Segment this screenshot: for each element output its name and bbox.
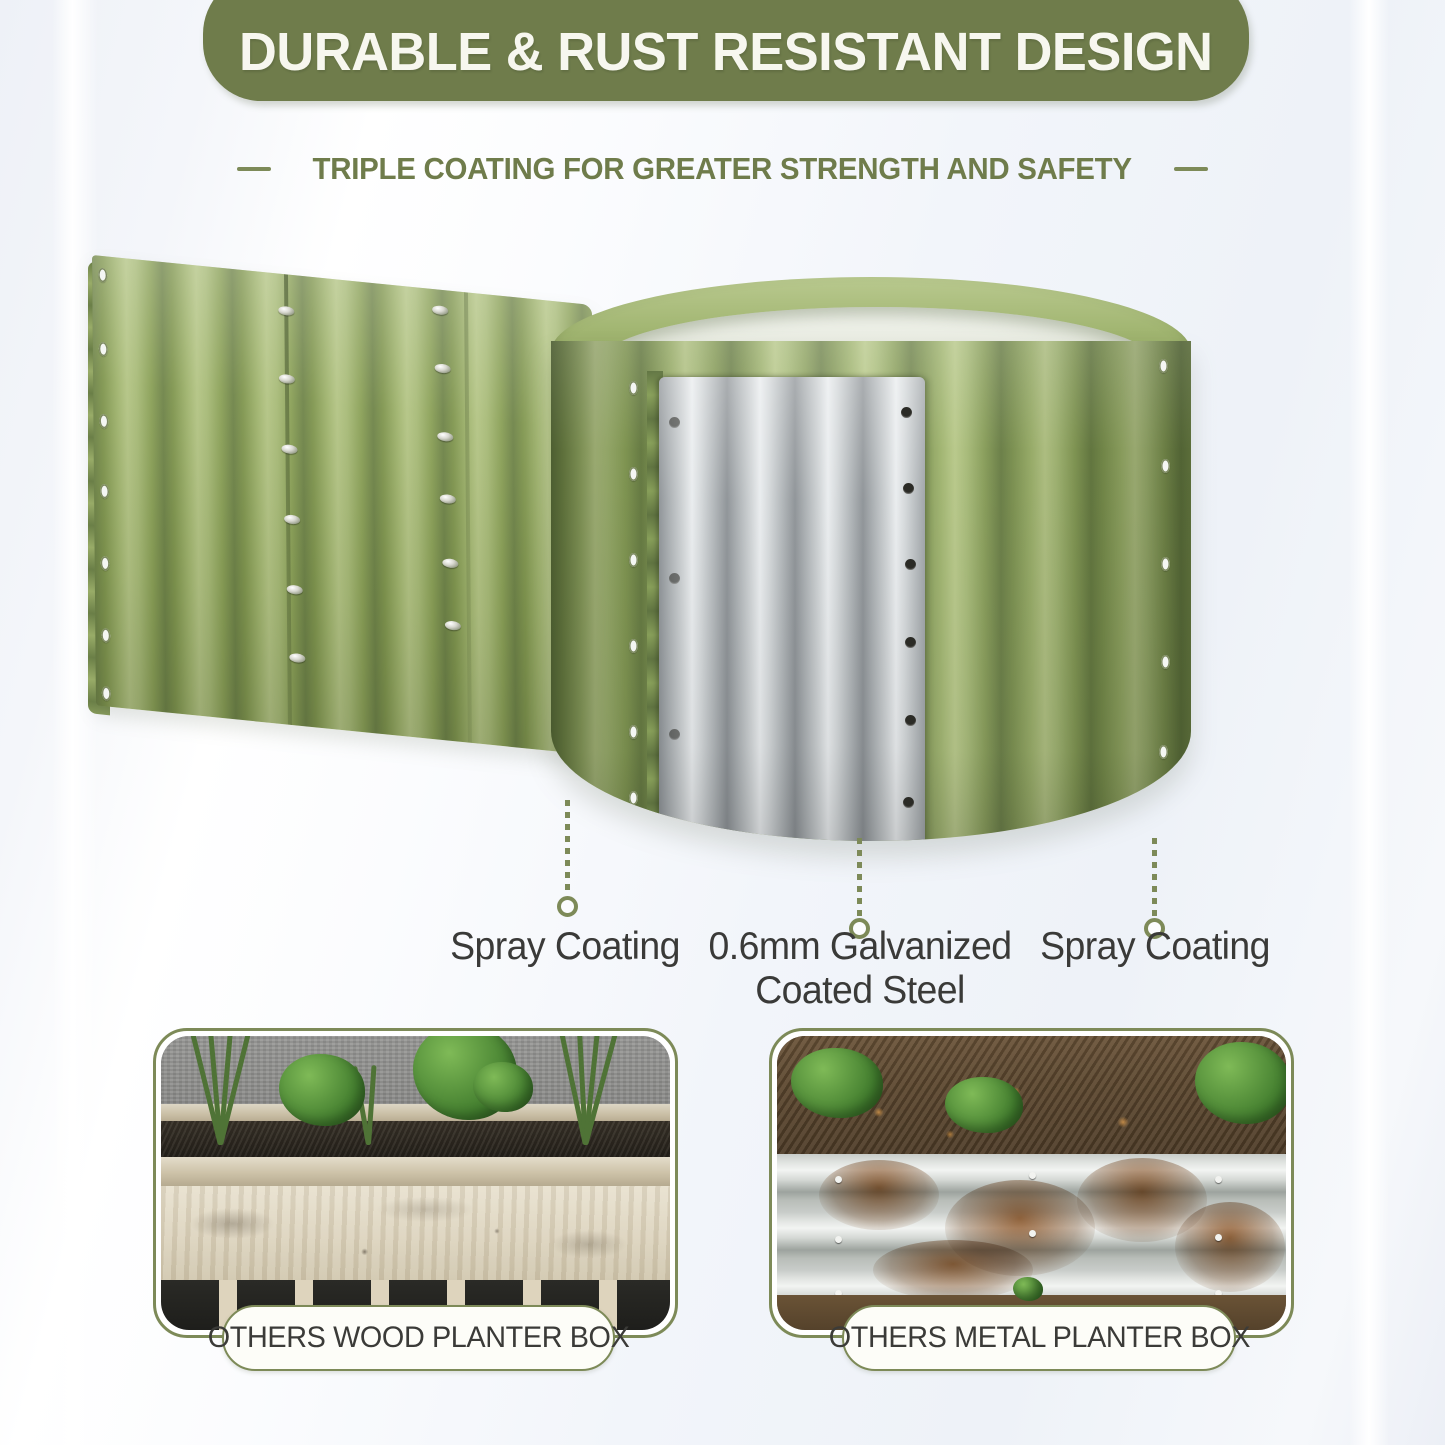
grommet-hole-icon [99, 414, 108, 429]
rivet-icon [1029, 1172, 1036, 1179]
rivet-icon [669, 573, 680, 584]
grommet-hole-icon [629, 791, 638, 805]
plant-foliage [791, 1048, 883, 1118]
rivet-icon [903, 797, 914, 808]
basil-plant [279, 1054, 365, 1126]
grommet-hole-icon [1161, 557, 1170, 571]
caption-metal-label: OTHERS METAL PLANTER BOX [828, 1321, 1249, 1355]
grommet-hole-icon [1159, 745, 1168, 759]
page-title: DURABLE & RUST RESISTANT DESIGN [239, 25, 1212, 101]
dash-right-icon [1174, 167, 1208, 171]
rivet-icon [903, 483, 914, 494]
wood-photo-art [161, 1036, 670, 1330]
plant-foliage [1013, 1277, 1043, 1301]
rivet-icon [1215, 1234, 1222, 1241]
title-banner: DURABLE & RUST RESISTANT DESIGN [203, 0, 1249, 101]
grommet-hole-icon [1161, 459, 1170, 473]
callout-label-middle: 0.6mm Galvanized Coated Steel [697, 925, 1023, 1012]
dash-left-icon [237, 167, 271, 171]
product-illustration [0, 215, 1445, 915]
grommet-hole-icon [100, 484, 109, 499]
grommet-hole-icon [629, 467, 638, 481]
subtitle-row: TRIPLE COATING FOR GREATER STRENGTH AND … [0, 146, 1445, 192]
grommet-hole-icon [99, 342, 108, 357]
infographic-canvas: DURABLE & RUST RESISTANT DESIGN TRIPLE C… [0, 0, 1445, 1445]
page-subtitle: TRIPLE COATING FOR GREATER STRENGTH AND … [313, 151, 1132, 187]
rivet-icon [905, 637, 916, 648]
rivet-icon [669, 729, 680, 740]
rivet-icon [669, 417, 680, 428]
rust-stain [873, 1240, 1033, 1300]
grommet-hole-icon [629, 553, 638, 567]
wood-front-boards [161, 1186, 670, 1280]
grommet-hole-icon [101, 556, 110, 571]
rivet-icon [905, 715, 916, 726]
rosemary-sprig [191, 1036, 245, 1145]
panel-sheen [92, 255, 596, 755]
grommet-hole-icon [102, 686, 111, 701]
cylinder-assembly [545, 263, 1205, 883]
cylinder-body [551, 341, 1191, 841]
grommet-hole-icon [629, 725, 638, 739]
grommet-hole-icon [629, 381, 638, 395]
metal-photo-art [777, 1036, 1286, 1330]
rivet-icon [901, 407, 912, 418]
grommet-hole-icon [629, 639, 638, 653]
wood-planter-photo [161, 1036, 670, 1330]
grommet-hole-icon [1161, 655, 1170, 669]
grommet-hole-icon [98, 268, 107, 283]
grommet-hole-icon [101, 628, 110, 643]
callout-label-middle-line1: 0.6mm Galvanized [697, 925, 1023, 969]
caption-pill-wood: OTHERS WOOD PLANTER BOX [222, 1305, 615, 1371]
rivet-icon [835, 1236, 842, 1243]
rust-stain [1175, 1202, 1285, 1292]
rivet-icon [835, 1176, 842, 1183]
callout-label-left: Spray Coating [407, 925, 724, 969]
leader-ring-icon [849, 918, 870, 939]
callout-label-right: Spray Coating [1006, 925, 1304, 969]
metal-planter-photo [777, 1036, 1286, 1330]
grommet-hole-icon [1159, 359, 1168, 373]
leader-ring-icon [1144, 918, 1165, 939]
rivet-icon [1215, 1176, 1222, 1183]
rivet-icon [905, 559, 916, 570]
wood-front-rail [161, 1157, 670, 1186]
steel-shading [659, 377, 925, 841]
green-corrugated-panel [92, 255, 596, 755]
rust-stain [819, 1160, 939, 1230]
caption-wood-label: OTHERS WOOD PLANTER BOX [208, 1321, 630, 1355]
rosemary-sprig [556, 1036, 610, 1145]
callout-label-middle-line2: Coated Steel [697, 969, 1023, 1013]
comparison-card-wood [153, 1028, 678, 1338]
rivet-icon [1029, 1230, 1036, 1237]
comparison-card-metal [769, 1028, 1294, 1338]
caption-pill-metal: OTHERS METAL PLANTER BOX [842, 1305, 1236, 1371]
galvanized-steel-core [659, 377, 925, 841]
